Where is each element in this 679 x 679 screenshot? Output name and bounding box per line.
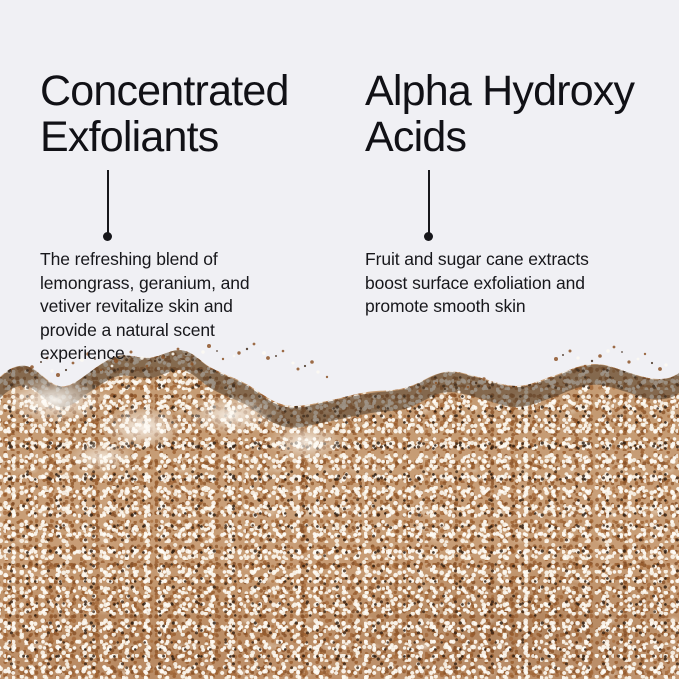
callout-body-text: Fruit and sugar cane extracts boost surf… — [365, 248, 665, 319]
pointer-line — [428, 170, 430, 236]
callout-heading: Alpha Hydroxy Acids — [365, 68, 665, 160]
callout-layer: Concentrated Exfoliants The refreshing b… — [0, 0, 679, 679]
pointer-dot — [103, 232, 112, 241]
callout-heading: Concentrated Exfoliants — [40, 68, 340, 160]
pointer-dot — [424, 232, 433, 241]
callout-concentrated-exfoliants: Concentrated Exfoliants The refreshing b… — [40, 68, 340, 366]
product-feature-poster: Concentrated Exfoliants The refreshing b… — [0, 0, 679, 679]
pointer-line — [107, 170, 109, 236]
callout-body-text: The refreshing blend of lemongrass, gera… — [40, 248, 340, 366]
vertical-line-with-dot-icon — [422, 170, 436, 248]
vertical-line-with-dot-icon — [101, 170, 115, 248]
callout-alpha-hydroxy-acids: Alpha Hydroxy Acids Fruit and sugar cane… — [365, 68, 665, 319]
